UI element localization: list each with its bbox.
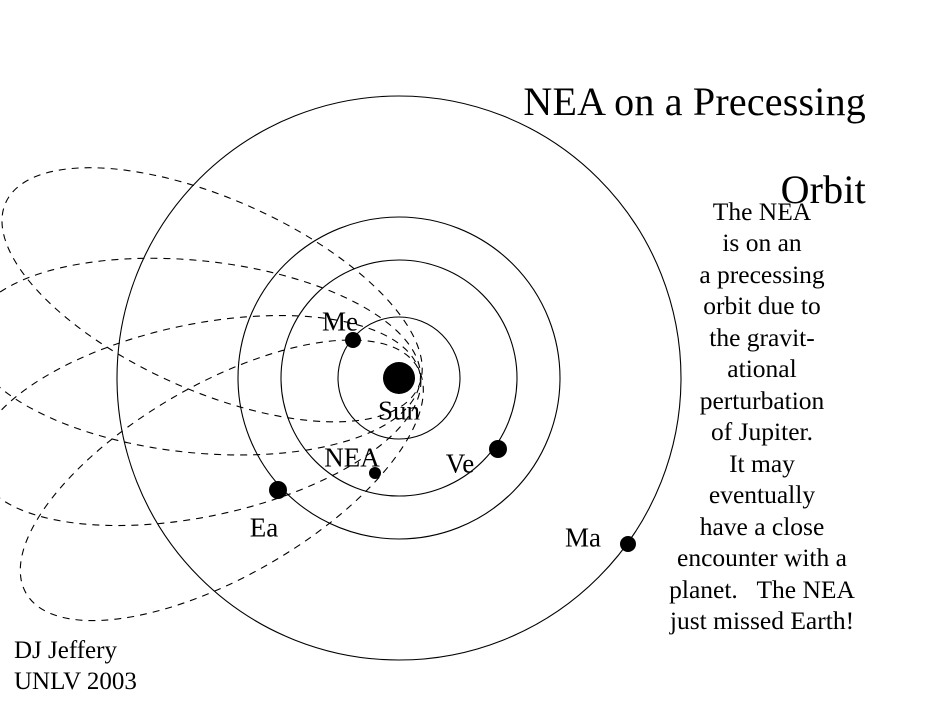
annotation-text: The NEA is on an a precessing orbit due … <box>596 196 928 637</box>
credit-line-author: DJ Jeffery <box>14 636 137 667</box>
annotation-line-10: eventually <box>596 479 928 510</box>
body-label-venus: Ve <box>446 451 475 478</box>
annotation-line-9: It may <box>596 448 928 479</box>
annotation-line-1: The NEA <box>596 196 928 227</box>
body-label-sun: Sun <box>378 398 420 425</box>
annotation-line-12: encounter with a <box>596 542 928 573</box>
author-credit: DJ Jeffery UNLV 2003 <box>14 636 137 697</box>
annotation-line-3: a precessing <box>596 259 928 290</box>
body-marker-venus <box>489 440 507 458</box>
annotation-line-14: just missed Earth! <box>596 605 928 636</box>
body-marker-earth <box>269 481 287 499</box>
body-marker-sun <box>383 362 415 394</box>
annotation-line-4: orbit due to <box>596 290 928 321</box>
annotation-line-13: planet. The NEA <box>596 574 928 605</box>
annotation-line-5: the gravit- <box>596 322 928 353</box>
annotation-line-2: is on an <box>596 227 928 258</box>
credit-line-institution: UNLV 2003 <box>14 667 137 698</box>
slide-canvas: NEA on a Precessing Orbit The NEA is on … <box>0 0 928 711</box>
annotation-line-7: perturbation <box>596 385 928 416</box>
body-label-mercury: Me <box>322 309 358 336</box>
annotation-line-6: ational <box>596 353 928 384</box>
body-label-earth: Ea <box>250 515 278 542</box>
body-label-nea: NEA <box>324 445 380 472</box>
annotation-line-8: of Jupiter. <box>596 416 928 447</box>
nea-orbit-ellipse-3 <box>0 238 430 476</box>
page-title: NEA on a Precessing Orbit <box>446 36 866 212</box>
annotation-line-11: have a close <box>596 511 928 542</box>
title-line-1: NEA on a Precessing <box>523 79 866 124</box>
nea-orbit-ellipse-1 <box>0 284 466 676</box>
body-label-mars: Ma <box>565 525 601 552</box>
